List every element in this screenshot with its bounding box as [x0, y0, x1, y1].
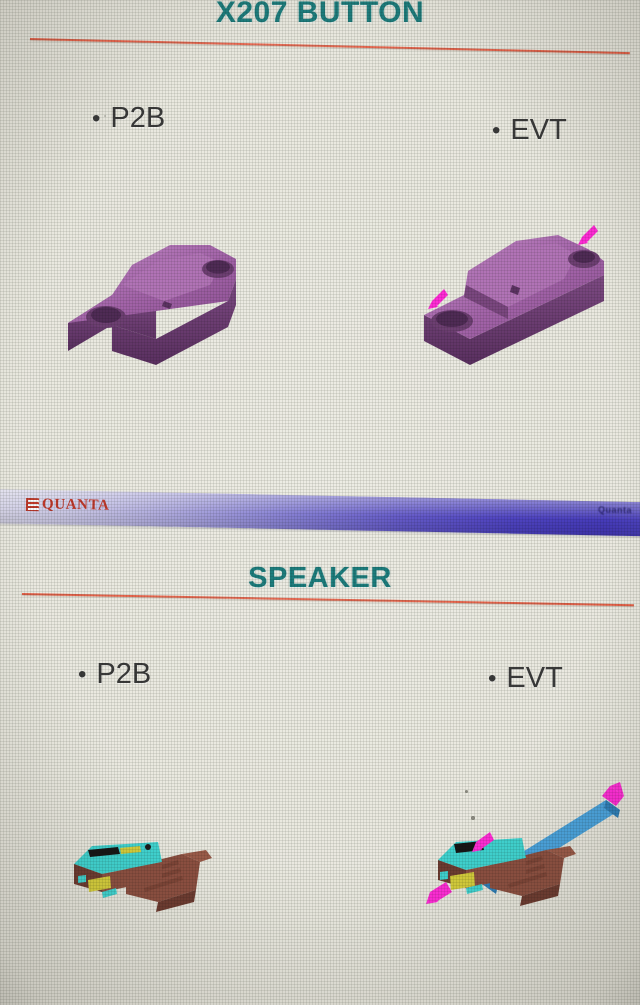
- cad-render-button-bracket-p2b: [60, 205, 290, 375]
- figure-button-bracket-p2b: [60, 205, 290, 380]
- annotation-arrow-icon: [426, 882, 452, 904]
- bullet-label-p2b-speaker: P2B: [96, 658, 151, 690]
- figure-speaker-module-evt: [424, 780, 639, 925]
- cad-render-button-bracket-evt: [408, 215, 633, 385]
- bullet-dot-icon: •: [78, 661, 86, 688]
- bullet-label-p2b-button: P2B: [110, 102, 165, 134]
- photo-speck: [465, 790, 468, 793]
- cad-render-speaker-evt: [424, 780, 639, 920]
- section-divider-rule-top: [30, 38, 630, 54]
- quanta-flag-icon: [26, 498, 39, 511]
- annotation-arrow-icon: [578, 225, 598, 245]
- bullet-label-evt-speaker: EVT: [506, 662, 562, 694]
- bullet-item-evt-speaker: •EVT: [488, 662, 563, 695]
- bullet-dot-icon: •: [488, 665, 496, 692]
- footer-brand-name: QUANTA: [42, 496, 110, 514]
- figure-speaker-module-p2b: [62, 828, 232, 933]
- bullet-dot-icon: •: [92, 105, 100, 132]
- footer-brand-logo: QUANTA: [26, 496, 110, 515]
- bullet-label-evt-button: EVT: [510, 114, 566, 146]
- bullet-dot-icon: •: [492, 117, 500, 144]
- photo-speck: [104, 115, 106, 117]
- bullet-item-p2b-button: •P2B: [92, 102, 165, 135]
- bullet-item-p2b-speaker: •P2B: [78, 658, 151, 691]
- cad-render-speaker-p2b: [62, 828, 232, 928]
- section-title-x207-button: X207 BUTTON: [0, 0, 640, 30]
- footer-watermark: Quanta: [598, 505, 632, 516]
- section-title-speaker: SPEAKER: [0, 562, 640, 595]
- bullet-item-evt-button: •EVT: [492, 114, 567, 147]
- figure-button-bracket-evt: [408, 215, 633, 390]
- photo-speck: [471, 816, 475, 820]
- slide-photo: X207 BUTTON •P2B •EVT: [0, 0, 640, 1005]
